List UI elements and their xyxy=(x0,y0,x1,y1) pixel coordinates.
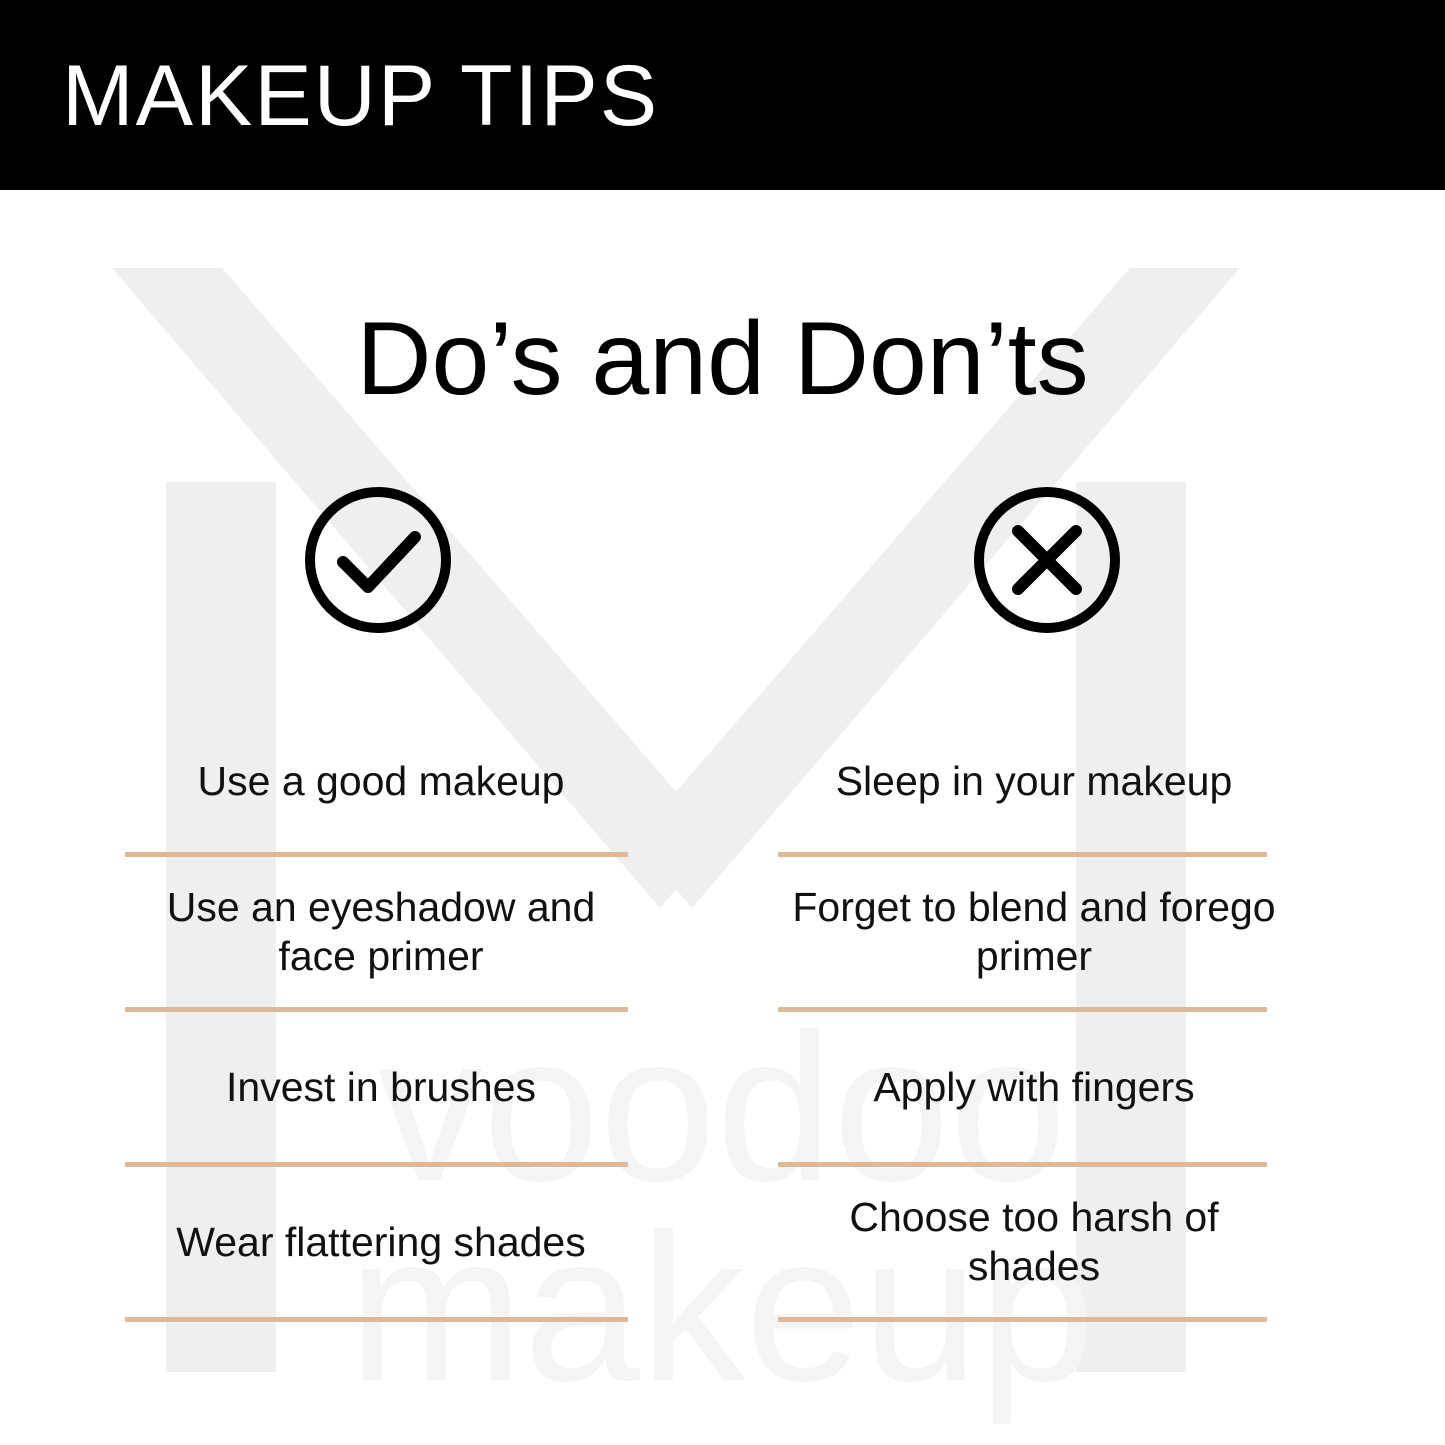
check-circle-icon xyxy=(298,480,458,640)
icon-row xyxy=(0,480,1445,640)
divider xyxy=(125,1317,628,1322)
section-title: Do’s and Don’ts xyxy=(0,300,1445,418)
page-title: MAKEUP TIPS xyxy=(62,50,659,142)
list-item: Wear flattering shades xyxy=(125,1167,637,1322)
do-icon-wrapper xyxy=(298,480,458,640)
makeup-tips-infographic: MAKEUP TIPS voodoo makeup Do’s and Don’t… xyxy=(0,0,1445,1445)
x-circle-icon xyxy=(967,480,1127,640)
tip-text: Wear flattering shades xyxy=(172,1218,589,1267)
list-item: Invest in brushes xyxy=(125,1012,637,1167)
tip-text: Use a good makeup xyxy=(194,757,569,806)
list-item: Use an eyeshadow and face primer xyxy=(125,857,637,1012)
tip-text: Apply with fingers xyxy=(869,1063,1198,1112)
list-item: Use a good makeup xyxy=(125,710,637,857)
list-item: Apply with fingers xyxy=(778,1012,1290,1167)
divider xyxy=(778,1317,1267,1322)
dos-column: Use a good makeup Use an eyeshadow and f… xyxy=(125,710,637,1322)
tip-text: Forget to blend and forego primer xyxy=(778,883,1290,981)
list-item: Choose too harsh of shades xyxy=(778,1167,1290,1322)
header-bar: MAKEUP TIPS xyxy=(0,0,1445,190)
tip-text: Sleep in your makeup xyxy=(832,757,1237,806)
tip-text: Choose too harsh of shades xyxy=(778,1193,1290,1291)
tip-text: Use an eyeshadow and face primer xyxy=(125,883,637,981)
dont-icon-wrapper xyxy=(967,480,1127,640)
list-item: Forget to blend and forego primer xyxy=(778,857,1290,1012)
tip-text: Invest in brushes xyxy=(222,1063,540,1112)
list-item: Sleep in your makeup xyxy=(778,710,1290,857)
donts-column: Sleep in your makeup Forget to blend and… xyxy=(778,710,1290,1322)
main-content: Do’s and Don’ts Use a go xyxy=(0,190,1445,1445)
